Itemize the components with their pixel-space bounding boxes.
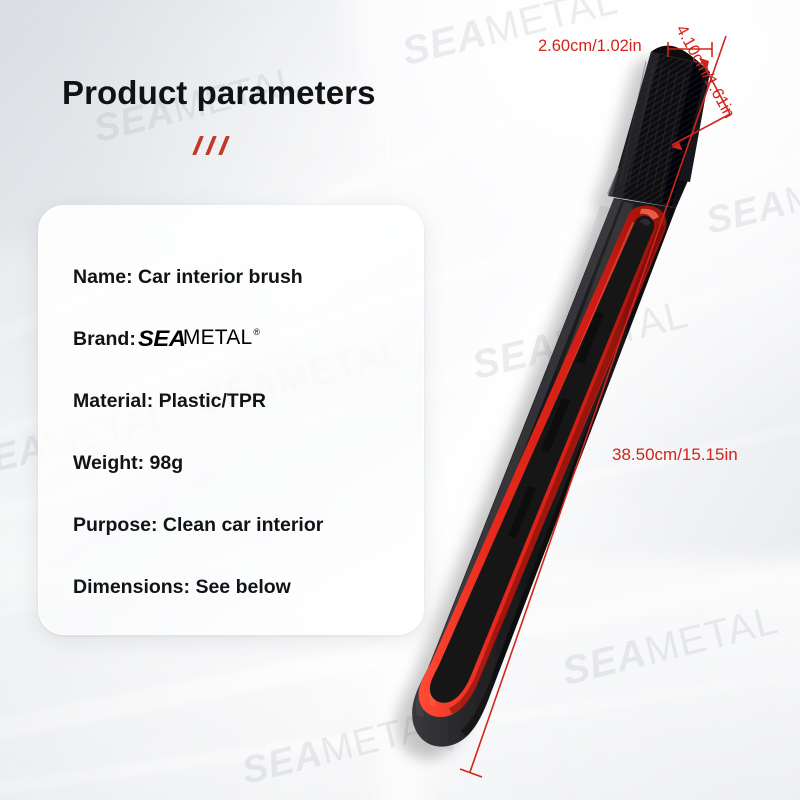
title-accent-slashes bbox=[196, 136, 226, 155]
spec-value: Plastic/TPR bbox=[153, 390, 266, 413]
spec-label: Name: bbox=[73, 266, 133, 289]
spec-value: 98g bbox=[144, 452, 183, 475]
spec-label: Brand: bbox=[73, 328, 136, 351]
spec-row: Material: Plastic/TPR bbox=[73, 370, 409, 432]
spec-label: Purpose: bbox=[73, 514, 158, 537]
dimension-label-head-width: 2.60cm/1.02in bbox=[538, 37, 642, 56]
product-parameters-image: SEAMETALSEAMETALSEAMETALSEAMETALSEAMETAL… bbox=[0, 0, 800, 800]
spec-row: Purpose: Clean car interior bbox=[73, 494, 409, 556]
spec-row: Brand:SEAMETAL® bbox=[73, 308, 409, 370]
spec-label: Material: bbox=[73, 390, 153, 413]
spec-row: Weight: 98g bbox=[73, 432, 409, 494]
dimension-label-total-length: 38.50cm/15.15in bbox=[612, 445, 738, 465]
brand-logo-bold: SEA bbox=[138, 326, 186, 352]
spec-value: Clean car interior bbox=[158, 514, 324, 537]
brand-logo-light: METAL bbox=[183, 326, 252, 350]
spec-label: Dimensions: bbox=[73, 576, 190, 599]
spec-row: Name: Car interior brush bbox=[73, 246, 409, 308]
registered-trademark-icon: ® bbox=[253, 327, 260, 337]
spec-card: Name: Car interior brushBrand:SEAMETAL®M… bbox=[38, 205, 424, 635]
spec-value: See below bbox=[190, 576, 291, 599]
spec-value: Car interior brush bbox=[133, 266, 303, 289]
spec-label: Weight: bbox=[73, 452, 144, 475]
accent-slash bbox=[205, 136, 217, 155]
page-title: Product parameters bbox=[62, 74, 376, 112]
brand-logo: SEAMETAL® bbox=[138, 326, 260, 352]
spec-row: Dimensions: See below bbox=[73, 556, 409, 618]
